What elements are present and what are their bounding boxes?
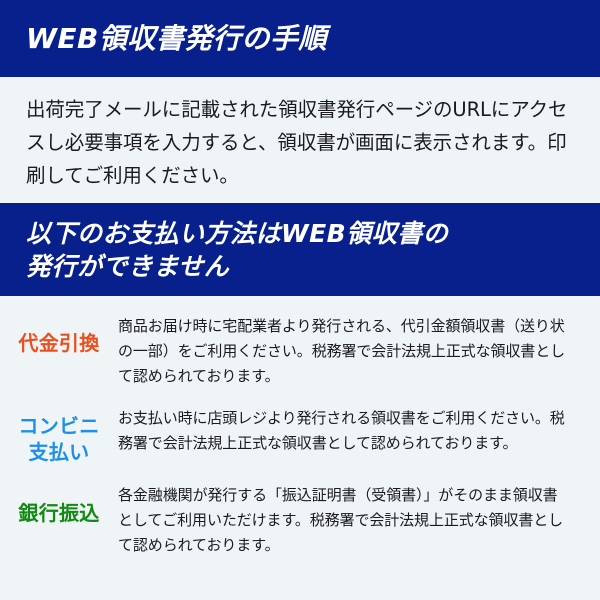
payment-method-description-cod: 商品お届け時に宅配業者より発行される、代引金額領収書（送り状の一部）をご利用くだ… <box>118 314 590 389</box>
payment-method-description-bank: 各金融機関が発行する「振込証明書（受領書）」がそのまま領収書としてご利用いただけ… <box>118 483 590 558</box>
notice-banner-title: 以下のお支払い方法はWEB領収書の 発行ができません <box>26 217 600 283</box>
payment-methods-list: 代金引換 商品お届け時に宅配業者より発行される、代引金額領収書（送り状の一部）を… <box>0 296 600 558</box>
payment-method-description-konbini: お支払い時に店頭レジより発行される領収書をご利用ください。税務署で会計法規上正式… <box>118 406 590 456</box>
notice-banner: 以下のお支払い方法はWEB領収書の 発行ができません <box>0 203 600 296</box>
page-title: WEB領収書発行の手順 <box>26 23 600 55</box>
payment-method-row-cod: 代金引換 商品お届け時に宅配業者より発行される、代引金額領収書（送り状の一部）を… <box>0 296 600 389</box>
payment-method-row-bank: 銀行振込 各金融機関が発行する「振込証明書（受領書）」がそのまま領収書としてご利… <box>0 465 600 558</box>
header-banner: WEB領収書発行の手順 <box>0 0 600 77</box>
intro-section: 出荷完了メールに記載された領収書発行ページのURLにアクセスし必要事項を入力する… <box>0 77 600 203</box>
payment-method-label-konbini: コンビニ 支払い <box>0 406 118 465</box>
payment-method-label-bank: 銀行振込 <box>0 483 118 526</box>
payment-method-label-cod: 代金引換 <box>0 314 118 356</box>
payment-method-row-konbini: コンビニ 支払い お支払い時に店頭レジより発行される領収書をご利用ください。税務… <box>0 389 600 465</box>
receipt-instructions-page: WEB領収書発行の手順 出荷完了メールに記載された領収書発行ページのURLにアク… <box>0 0 600 600</box>
intro-paragraph: 出荷完了メールに記載された領収書発行ページのURLにアクセスし必要事項を入力する… <box>26 93 582 192</box>
